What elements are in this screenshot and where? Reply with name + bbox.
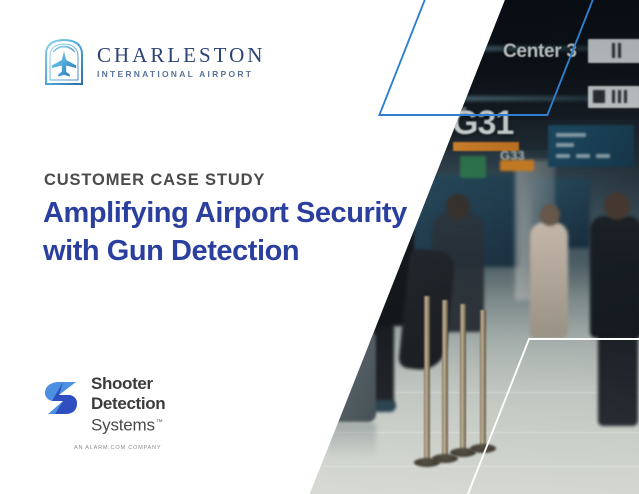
sds-s-monogram-icon <box>43 377 79 419</box>
vendor-name-line-1: Shooter <box>91 374 165 394</box>
vendor-tagline: AN ALARM.COM COMPANY <box>74 445 161 451</box>
vendor-name-line-2: Detection <box>91 394 165 414</box>
vendor-logo-wordmark: Shooter Detection Systems™ <box>91 374 165 436</box>
trademark-symbol: ™ <box>156 419 163 426</box>
client-logo-wordmark: CHARLESTON INTERNATIONAL AIRPORT <box>97 44 265 81</box>
client-subtitle: INTERNATIONAL AIRPORT <box>97 68 265 81</box>
page-title: Amplifying Airport Security with Gun Det… <box>43 194 433 270</box>
client-name: CHARLESTON <box>97 44 265 67</box>
vendor-logo: Shooter Detection Systems™ <box>43 374 165 436</box>
page-title-line-1: Amplifying Airport Security <box>43 194 433 232</box>
client-logo: CHARLESTON INTERNATIONAL AIRPORT <box>44 38 265 86</box>
page-title-line-2: with Gun Detection <box>43 232 433 270</box>
vendor-name-systems: Systems <box>91 416 155 435</box>
airport-shield-airplane-icon <box>44 38 84 86</box>
vendor-name-line-3: Systems™ <box>91 413 165 436</box>
eyebrow-label: CUSTOMER CASE STUDY <box>44 171 265 190</box>
case-study-cover: Center 3 Gate G31 G33 <box>0 0 639 494</box>
